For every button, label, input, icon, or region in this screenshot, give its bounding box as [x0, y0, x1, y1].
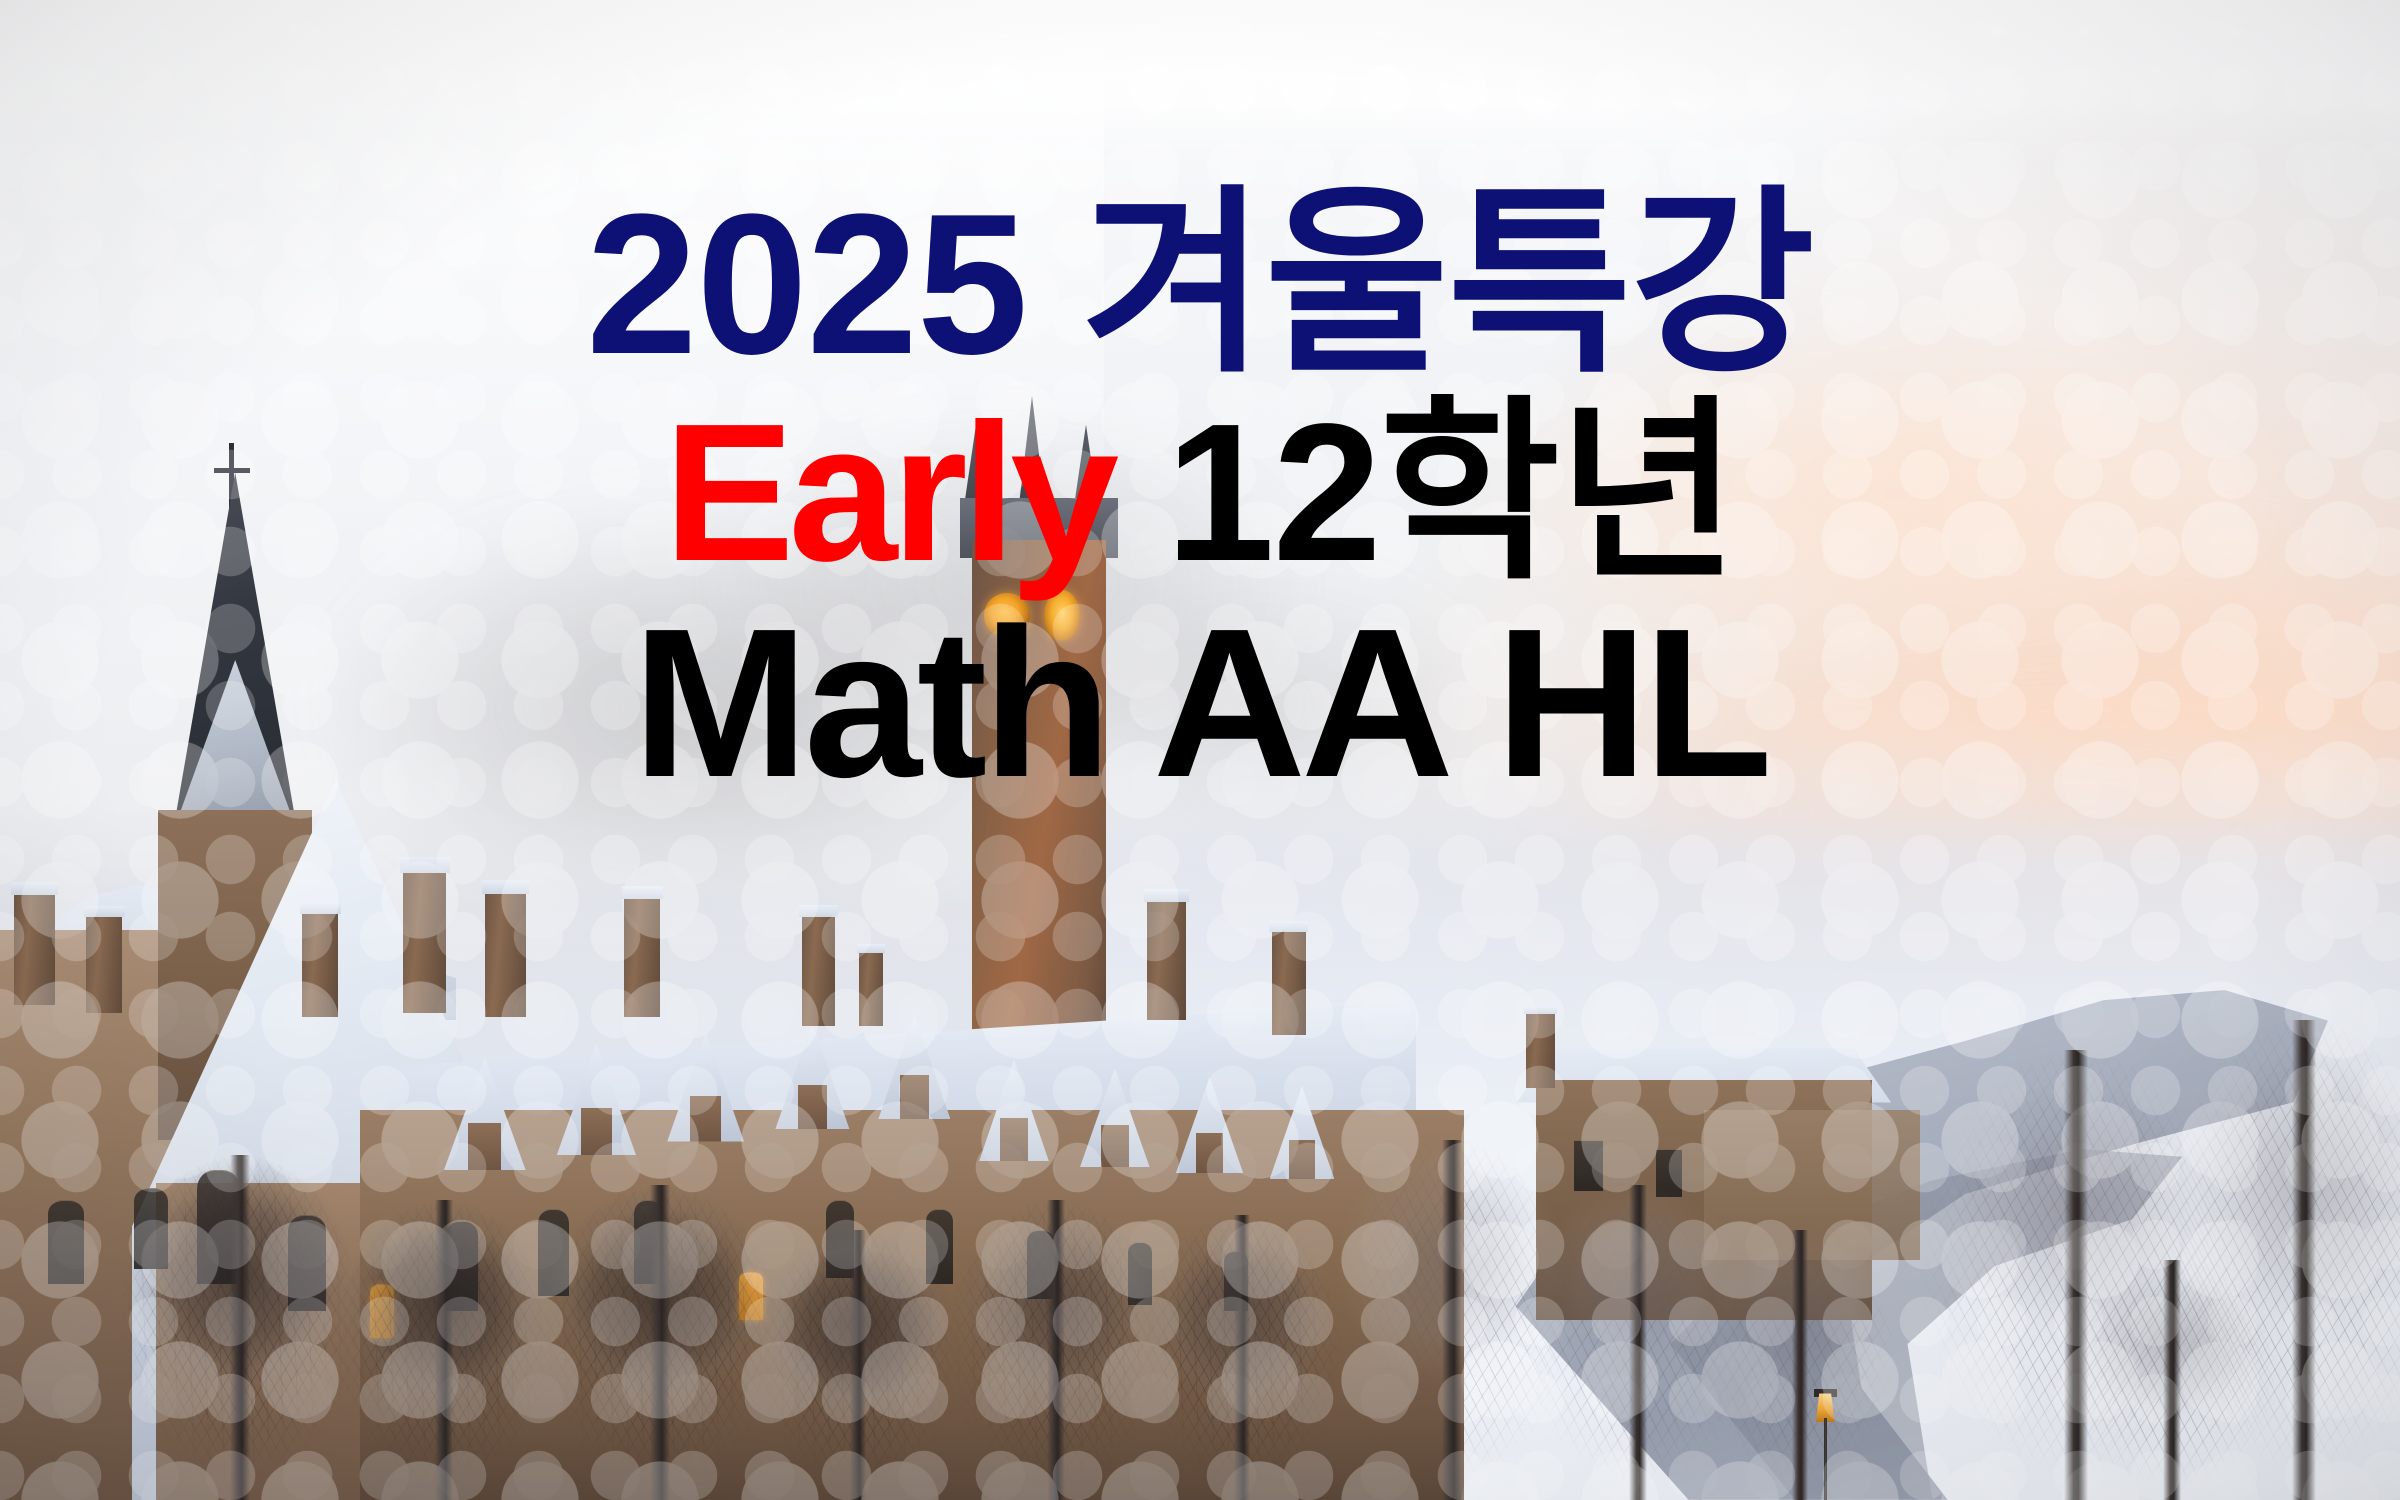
headline-stack: 2025 겨울특강 Early 12학년 Math AA HL: [0, 0, 2400, 1500]
winter-course-banner: 2025 겨울특강 Early 12학년 Math AA HL: [0, 0, 2400, 1500]
headline-line-3: Math AA HL: [632, 598, 1767, 808]
headline-early-highlight: Early: [664, 383, 1113, 602]
headline-line-2: Early 12학년: [664, 396, 1737, 590]
headline-line-1: 2025 겨울특강: [586, 186, 1814, 384]
headline-grade: 12학년: [1113, 383, 1736, 602]
